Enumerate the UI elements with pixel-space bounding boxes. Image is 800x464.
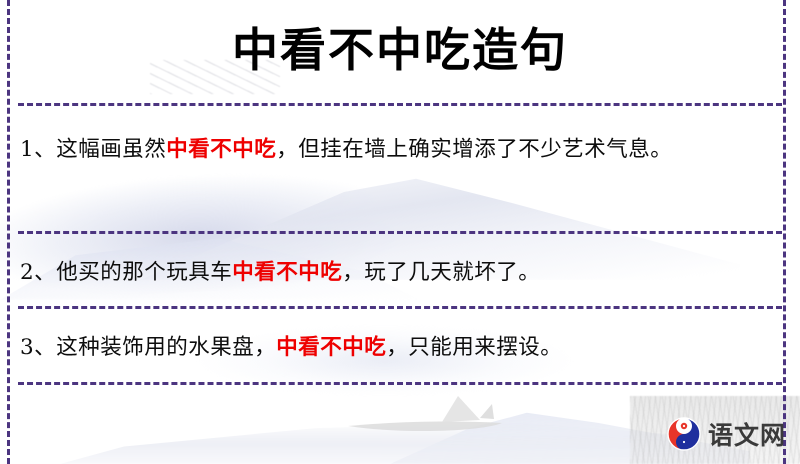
sentence-3-index: 3、 xyxy=(20,335,56,360)
sentence-3-after: ，只能用来摆设。 xyxy=(386,335,562,360)
sentence-2-index: 2、 xyxy=(20,260,56,285)
sentence-2-keyword: 中看不中吃 xyxy=(232,260,342,285)
divider-line-3 xyxy=(18,306,782,309)
sentence-3-before: 这种装饰用的水果盘， xyxy=(56,335,276,360)
brand-name: 语文网 xyxy=(708,416,786,452)
brand-watermark: 语文网 xyxy=(667,416,786,452)
sentence-worksheet-page: 中看不中吃造句 1、这幅画虽然中看不中吃，但挂在墙上确实增添了不少艺术气息。 2… xyxy=(0,0,800,464)
background-water-sweep xyxy=(60,418,700,464)
sentence-1-before: 这幅画虽然 xyxy=(56,137,166,162)
page-title: 中看不中吃造句 xyxy=(0,22,800,80)
background-boat-icon xyxy=(330,392,520,440)
sentence-1-index: 1、 xyxy=(20,137,56,162)
sentence-item-1: 1、这幅画虽然中看不中吃，但挂在墙上确实增添了不少艺术气息。 xyxy=(20,132,776,168)
sentence-item-2: 2、他买的那个玩具车中看不中吃，玩了几天就坏了。 xyxy=(20,255,776,291)
sentence-1-keyword: 中看不中吃 xyxy=(166,137,276,162)
divider-line-4 xyxy=(18,382,782,385)
yin-yang-circle-icon xyxy=(667,417,701,451)
sentence-item-3: 3、这种装饰用的水果盘，中看不中吃，只能用来摆设。 xyxy=(20,330,776,366)
sentence-2-after: ，玩了几天就坏了。 xyxy=(342,260,540,285)
divider-line-2 xyxy=(18,231,782,234)
divider-line-1 xyxy=(18,103,782,106)
sentence-3-keyword: 中看不中吃 xyxy=(276,335,386,360)
sentence-1-after: ，但挂在墙上确实增添了不少艺术气息。 xyxy=(276,137,672,162)
sentence-2-before: 他买的那个玩具车 xyxy=(56,260,232,285)
